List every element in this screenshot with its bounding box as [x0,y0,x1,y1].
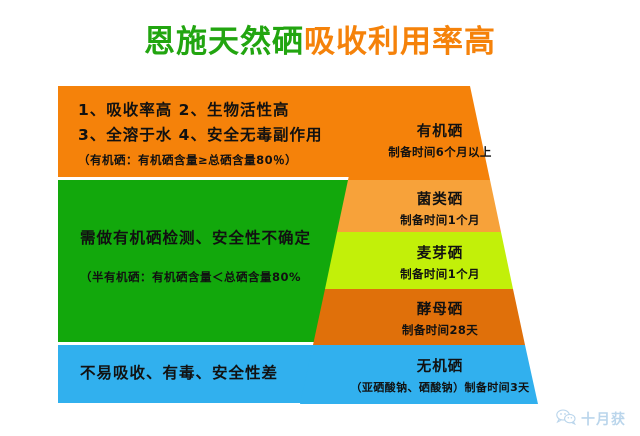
pyramid-band-label-inorganic: 无机硒 （亚硒酸钠、硒酸钠）制备时间3天 [300,355,580,395]
page-title-green-part: 恩施天然硒 [144,24,304,60]
wechat-icon [556,409,576,429]
watermark-text: 十月获 [581,409,626,429]
pyramid-band-label-malt: 麦芽硒 制备时间1个月 [300,242,580,282]
pyramid-band-sub: 制备时间6个月以上 [300,144,580,160]
pyramid-band-sub: 制备时间1个月 [300,212,580,228]
pyramid-band-label-fungal: 菌类硒 制备时间1个月 [300,188,580,228]
page-title: 恩施天然硒吸收利用率高 [0,16,640,61]
watermark: 十月获 [556,409,626,429]
pyramid-band-sub: 制备时间28天 [300,322,580,338]
pyramid-band-name: 无机硒 [300,355,580,376]
pyramid-band-name: 有机硒 [300,120,580,141]
page-title-orange-part: 吸收利用率高 [304,24,496,60]
pyramid-band-name: 酵母硒 [300,298,580,319]
pyramid-band-name: 菌类硒 [300,188,580,209]
pyramid-band-label-organic: 有机硒 制备时间6个月以上 [300,120,580,160]
infographic-canvas: 恩施天然硒吸收利用率高 1、吸收率高 2、生物活性高 3、全溶于水 4、安全无毒… [0,0,640,436]
pyramid-band-label-yeast: 酵母硒 制备时间28天 [300,298,580,338]
pyramid-band-sub: 制备时间1个月 [300,266,580,282]
selenium-pyramid: 有机硒 制备时间6个月以上 菌类硒 制备时间1个月 麦芽硒 制备时间1个月 酵母… [300,86,580,404]
pyramid-band-name: 麦芽硒 [300,242,580,263]
pyramid-band-sub: （亚硒酸钠、硒酸钠）制备时间3天 [300,379,580,395]
